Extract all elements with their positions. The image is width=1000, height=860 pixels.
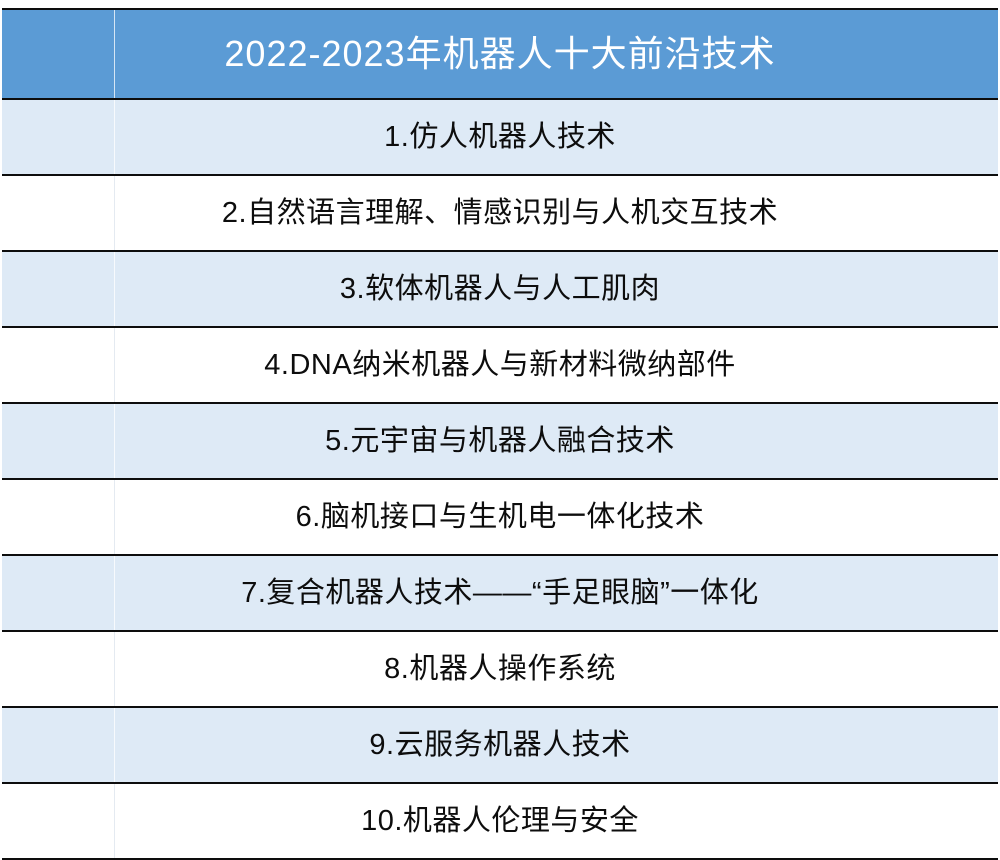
table-body: 2022-2023年机器人十大前沿技术 1.仿人机器人技术 <box>2 9 998 859</box>
technology-item-label: 9.云服务机器人技术 <box>2 708 998 782</box>
table-cell[interactable]: 6.脑机接口与生机电一体化技术 <box>2 479 998 555</box>
table-cell[interactable]: 1.仿人机器人技术 <box>2 99 998 175</box>
table-title: 2022-2023年机器人十大前沿技术 <box>2 10 998 98</box>
table-row[interactable]: 7.复合机器人技术——“手足眼脑”一体化 <box>2 555 998 631</box>
table-cell[interactable]: 3.软体机器人与人工肌肉 <box>2 251 998 327</box>
technology-item-label: 7.复合机器人技术——“手足眼脑”一体化 <box>2 556 998 630</box>
top-technologies-table: 2022-2023年机器人十大前沿技术 1.仿人机器人技术 <box>2 8 998 860</box>
page-root: 2022-2023年机器人十大前沿技术 1.仿人机器人技术 <box>0 0 1000 860</box>
table-row[interactable]: 2.自然语言理解、情感识别与人机交互技术 <box>2 175 998 251</box>
table-cell[interactable]: 9.云服务机器人技术 <box>2 707 998 783</box>
technology-item-label: 1.仿人机器人技术 <box>2 100 998 174</box>
table-row[interactable]: 4.DNA纳米机器人与新材料微纳部件 <box>2 327 998 403</box>
table-row[interactable]: 3.软体机器人与人工肌肉 <box>2 251 998 327</box>
cell-inner: 1.仿人机器人技术 <box>2 100 998 174</box>
cell-inner: 7.复合机器人技术——“手足眼脑”一体化 <box>2 556 998 630</box>
table-header-row: 2022-2023年机器人十大前沿技术 <box>2 9 998 99</box>
table-cell[interactable]: 5.元宇宙与机器人融合技术 <box>2 403 998 479</box>
table-cell[interactable]: 4.DNA纳米机器人与新材料微纳部件 <box>2 327 998 403</box>
table-cell[interactable]: 7.复合机器人技术——“手足眼脑”一体化 <box>2 555 998 631</box>
technology-item-label: 6.脑机接口与生机电一体化技术 <box>2 480 998 554</box>
table-row[interactable]: 8.机器人操作系统 <box>2 631 998 707</box>
technology-item-label: 10.机器人伦理与安全 <box>2 784 998 858</box>
table-row[interactable]: 1.仿人机器人技术 <box>2 99 998 175</box>
table-row[interactable]: 9.云服务机器人技术 <box>2 707 998 783</box>
table-row[interactable]: 10.机器人伦理与安全 <box>2 783 998 859</box>
technology-item-label: 4.DNA纳米机器人与新材料微纳部件 <box>2 328 998 402</box>
technology-item-label: 5.元宇宙与机器人融合技术 <box>2 404 998 478</box>
technology-item-label: 8.机器人操作系统 <box>2 632 998 706</box>
cell-inner: 2.自然语言理解、情感识别与人机交互技术 <box>2 176 998 250</box>
cell-inner: 9.云服务机器人技术 <box>2 708 998 782</box>
cell-inner: 8.机器人操作系统 <box>2 632 998 706</box>
table-row[interactable]: 5.元宇宙与机器人融合技术 <box>2 403 998 479</box>
table-row[interactable]: 6.脑机接口与生机电一体化技术 <box>2 479 998 555</box>
table-cell[interactable]: 2.自然语言理解、情感识别与人机交互技术 <box>2 175 998 251</box>
table-cell[interactable]: 8.机器人操作系统 <box>2 631 998 707</box>
cell-inner: 3.软体机器人与人工肌肉 <box>2 252 998 326</box>
cell-inner: 4.DNA纳米机器人与新材料微纳部件 <box>2 328 998 402</box>
header-cell-inner: 2022-2023年机器人十大前沿技术 <box>2 10 998 98</box>
cell-inner: 5.元宇宙与机器人融合技术 <box>2 404 998 478</box>
top-technologies-table-wrapper: 2022-2023年机器人十大前沿技术 1.仿人机器人技术 <box>2 8 998 860</box>
table-cell[interactable]: 10.机器人伦理与安全 <box>2 783 998 859</box>
technology-item-label: 3.软体机器人与人工肌肉 <box>2 252 998 326</box>
technology-item-label: 2.自然语言理解、情感识别与人机交互技术 <box>2 176 998 250</box>
cell-inner: 10.机器人伦理与安全 <box>2 784 998 858</box>
table-header-cell: 2022-2023年机器人十大前沿技术 <box>2 9 998 99</box>
cell-inner: 6.脑机接口与生机电一体化技术 <box>2 480 998 554</box>
